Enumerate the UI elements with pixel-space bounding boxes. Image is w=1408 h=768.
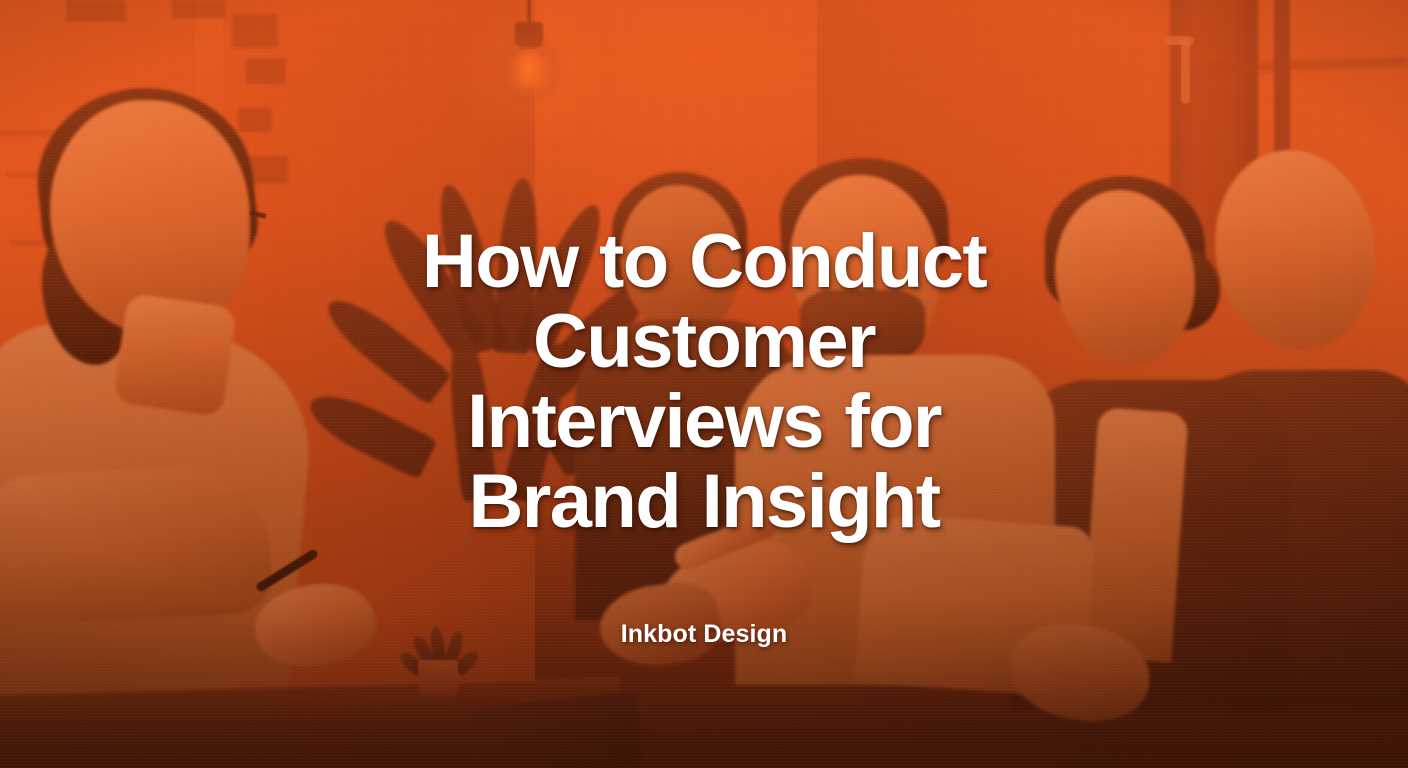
text-overlay: How to Conduct Customer Interviews for B… — [0, 0, 1408, 768]
headline-line-3: Interviews for — [344, 382, 1064, 462]
headline-line-1: How to Conduct — [344, 222, 1064, 302]
headline-line-4: Brand Insight — [344, 462, 1064, 542]
brand-name: Inkbot Design — [621, 620, 788, 649]
featured-image-canvas: How to Conduct Customer Interviews for B… — [0, 0, 1408, 768]
page-title: How to Conduct Customer Interviews for B… — [344, 222, 1064, 542]
headline-line-2: Customer — [344, 302, 1064, 382]
